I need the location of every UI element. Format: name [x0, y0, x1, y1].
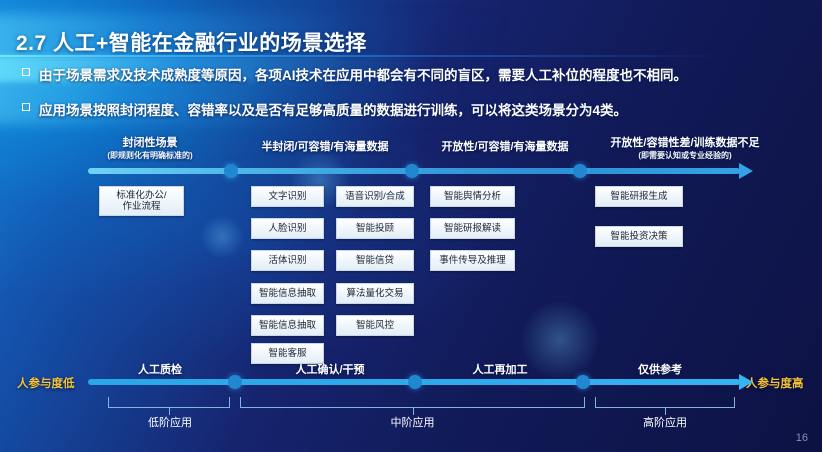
bottom-axis-node-1	[228, 375, 242, 389]
column-heading-label: 封闭性场景	[123, 137, 178, 149]
page-number: 16	[796, 432, 808, 444]
top-axis-arrowhead-icon	[739, 163, 753, 179]
bottom-axis-node-2	[408, 375, 422, 389]
page-title: 2.7 人工+智能在金融行业的场景选择	[16, 27, 367, 57]
bullet-item: 由于场景需求及技术成熟度等原因，各项AI技术在应用中都会有不同的盲区，需要人工补…	[22, 64, 812, 84]
column-heading-label: 开放性/可容错/有海量数据	[441, 141, 568, 153]
column-heading-5: 开放性/容错性差/训练数据不足 (即需要认知或专业经验的)	[585, 136, 785, 162]
scenario-box-label: 智能投顾	[356, 223, 394, 234]
bullet-square-icon	[22, 103, 30, 111]
axis-end-label: 人参与度高	[746, 375, 804, 391]
scenario-box[interactable]: 智能研报解读	[430, 218, 515, 239]
bottom-axis-node-3	[576, 375, 590, 389]
scenario-box-label: 算法量化交易	[346, 288, 403, 299]
scenario-box[interactable]: 标准化办公/ 作业流程	[99, 186, 184, 216]
axis-start-label: 人参与度低	[17, 375, 75, 391]
scenario-box[interactable]: 活体识别	[251, 250, 324, 271]
axis-segment-label-1: 人工质检	[100, 361, 220, 377]
top-axis-node-3	[573, 164, 587, 178]
background-glow-dot	[200, 215, 244, 259]
bracket-label-low: 低阶应用	[109, 414, 231, 430]
column-heading-label: 半封闭/可容错/有海量数据	[261, 141, 388, 153]
title-divider	[0, 55, 822, 57]
scenario-box[interactable]: 智能风控	[336, 315, 414, 336]
bullet-text: 应用场景按照封闭程度、容错率以及是否有足够高质量的数据进行训练，可以将这类场景分…	[39, 99, 627, 119]
bullet-item: 应用场景按照封闭程度、容错率以及是否有足够高质量的数据进行训练，可以将这类场景分…	[22, 99, 812, 119]
scenario-box[interactable]: 人脸识别	[251, 218, 324, 239]
column-heading-label: 开放性/容错性差/训练数据不足	[610, 137, 759, 149]
bullet-list: 由于场景需求及技术成熟度等原因，各项AI技术在应用中都会有不同的盲区，需要人工补…	[22, 64, 812, 134]
bottom-axis-arrowhead-icon	[739, 374, 753, 390]
scenario-box-label: 智能信贷	[356, 255, 394, 266]
bracket-high	[595, 397, 735, 408]
bullet-text: 由于场景需求及技术成熟度等原因，各项AI技术在应用中都会有不同的盲区，需要人工补…	[39, 64, 687, 84]
top-progress-axis	[88, 168, 740, 174]
scenario-box[interactable]: 智能舆情分析	[430, 186, 515, 207]
scenario-box[interactable]: 文字识别	[251, 186, 324, 207]
top-axis-node-1	[224, 164, 238, 178]
column-heading-1: 封闭性场景 (即规则化有明确标准的)	[90, 136, 210, 162]
scenario-box[interactable]: 算法量化交易	[336, 283, 414, 304]
scenario-box-label: 智能客服	[268, 348, 306, 359]
scenario-box-label: 语音识别/合成	[345, 191, 405, 202]
scenario-box[interactable]: 智能投资决策	[595, 226, 683, 247]
scenario-box-label: 事件传导及推理	[439, 255, 506, 266]
bottom-participation-axis	[88, 379, 740, 385]
scenario-box-label: 文字识别	[268, 191, 306, 202]
scenario-box-label: 标准化办公/ 作业流程	[116, 190, 166, 213]
axis-segment-label-4: 仅供参考	[605, 361, 715, 377]
scenario-box-label: 智能风控	[356, 320, 394, 331]
bracket-label-high: 高阶应用	[595, 414, 735, 430]
scenario-box-label: 智能投资决策	[610, 231, 667, 242]
bracket-low	[108, 397, 230, 408]
bracket-mid	[240, 397, 585, 408]
column-heading-4: 开放性/可容错/有海量数据	[415, 140, 595, 155]
scenario-box-label: 活体识别	[268, 255, 306, 266]
scenario-box[interactable]: 智能研报生成	[595, 186, 683, 207]
top-axis-node-2	[405, 164, 419, 178]
axis-segment-label-2: 人工确认/干预	[265, 361, 395, 377]
scenario-box-label: 智能研报生成	[610, 191, 667, 202]
scenario-box[interactable]: 语音识别/合成	[336, 186, 414, 207]
scenario-box[interactable]: 智能信息抽取	[251, 283, 324, 304]
scenario-box-label: 智能舆情分析	[444, 191, 501, 202]
bullet-square-icon	[22, 68, 30, 76]
scenario-box-label: 智能研报解读	[444, 223, 501, 234]
axis-segment-label-3: 人工再加工	[440, 361, 560, 377]
scenario-box[interactable]: 智能投顾	[336, 218, 414, 239]
scenario-box[interactable]: 智能信息抽取	[251, 315, 324, 336]
scenario-box-label: 智能信息抽取	[259, 288, 316, 299]
bracket-label-mid: 中阶应用	[240, 414, 585, 430]
scenario-box-label: 智能信息抽取	[259, 320, 316, 331]
column-subheading-label: (即需要认知或专业经验的)	[585, 151, 785, 162]
column-heading-2: 半封闭/可容错/有海量数据	[235, 140, 415, 155]
scenario-box[interactable]: 事件传导及推理	[430, 250, 515, 271]
column-subheading-label: (即规则化有明确标准的)	[90, 151, 210, 162]
scenario-box-label: 人脸识别	[268, 223, 306, 234]
slide-canvas: 2.7 人工+智能在金融行业的场景选择 由于场景需求及技术成熟度等原因，各项AI…	[0, 0, 822, 452]
scenario-box[interactable]: 智能信贷	[336, 250, 414, 271]
